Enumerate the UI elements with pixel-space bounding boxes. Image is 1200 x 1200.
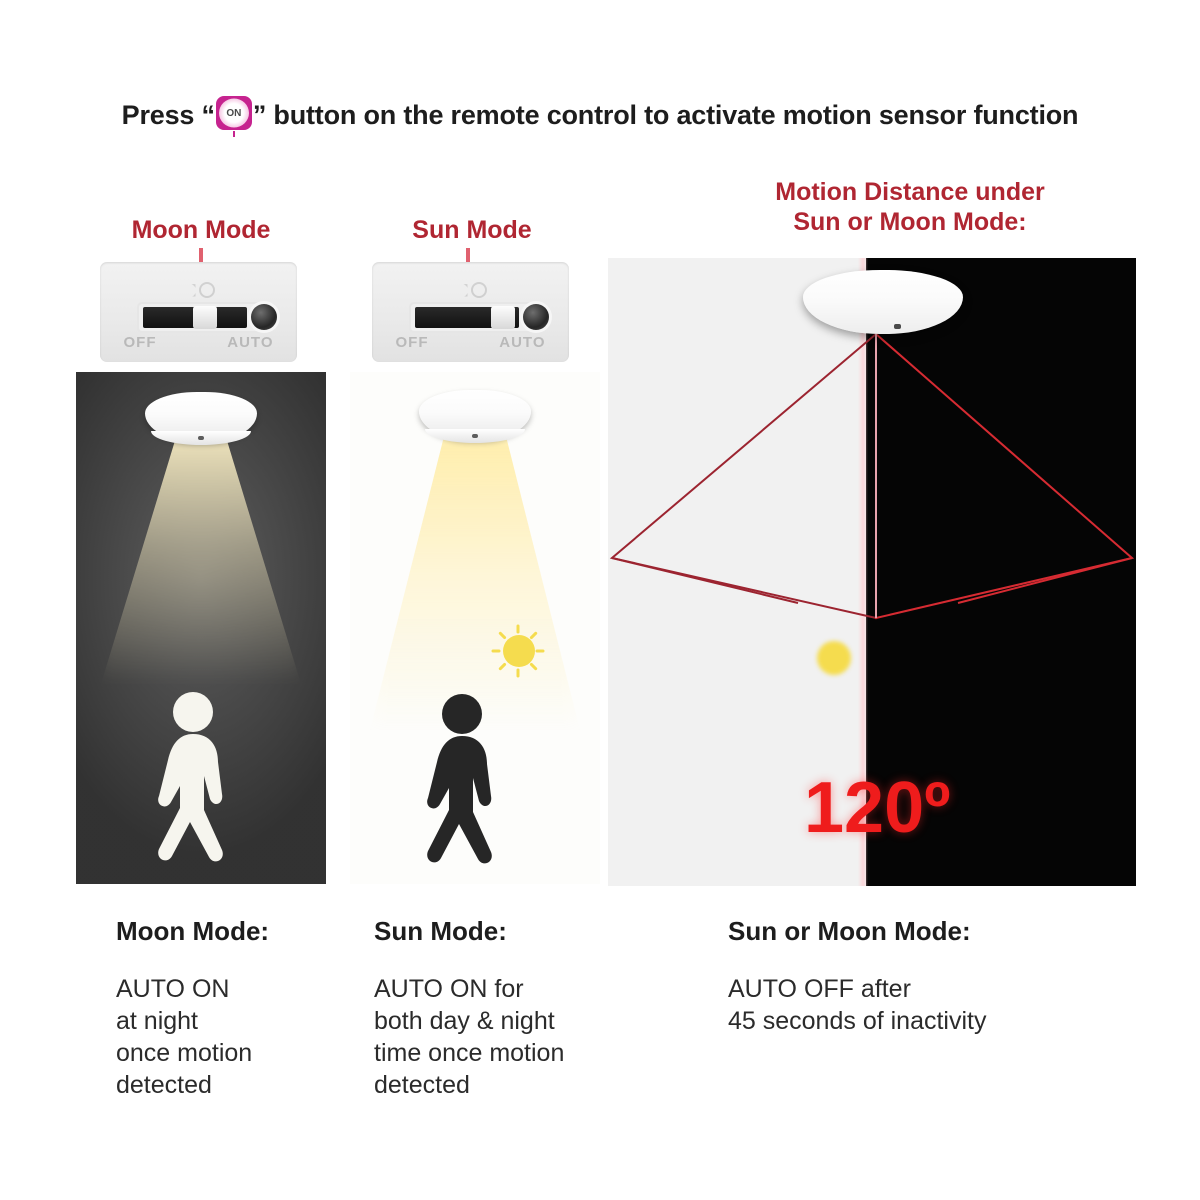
caption-moon-mode: Moon Mode: AUTO ON at night once motion … (116, 916, 376, 1101)
caption-title: Sun Mode: (374, 916, 654, 947)
sun-core (817, 641, 851, 675)
motion-distance-title: Motion Distance under Sun or Moon Mode: (700, 178, 1120, 237)
sun-icon (804, 628, 864, 688)
moon-icon (176, 280, 222, 300)
moon-mode-scene (76, 372, 326, 884)
sun-ray (498, 662, 506, 670)
sun-ray (529, 631, 537, 639)
sun-ray (529, 662, 537, 670)
sensor-lens-icon (523, 304, 549, 330)
switch-knob[interactable] (491, 306, 515, 329)
switch-auto-label: AUTO (227, 334, 273, 351)
sun-ray (516, 669, 519, 678)
sun-ray (498, 631, 506, 639)
ceiling-light-icon (419, 390, 531, 440)
on-button-stem (233, 131, 235, 137)
header-text-before: Press “ (122, 100, 215, 130)
sun-icon (448, 280, 494, 300)
ceiling-light-icon (145, 392, 257, 442)
detection-angle-label: 120º (804, 772, 950, 844)
device-switch-plate-sun[interactable]: OFF AUTO (372, 262, 569, 362)
sun-ray (535, 650, 544, 653)
sun-icon (490, 622, 548, 680)
lamp-body (419, 390, 531, 440)
crescent-moon-icon (890, 626, 930, 666)
caption-title: Sun or Moon Mode: (728, 916, 1128, 947)
on-button-icon[interactable]: ON (216, 96, 252, 130)
device-switch-plate-moon[interactable]: OFF AUTO (100, 262, 297, 362)
caption-body: AUTO ON for both day & night time once m… (374, 973, 654, 1101)
sun-ray (491, 650, 500, 653)
caption-body: AUTO OFF after 45 seconds of inactivity (728, 973, 1128, 1037)
sun-glyph (199, 282, 215, 298)
light-beam (370, 430, 580, 730)
switch-off-label: OFF (396, 334, 429, 351)
switch-labels: OFF AUTO (396, 334, 546, 351)
instruction-header: Press “ ON ” button on the remote contro… (0, 96, 1200, 135)
mode-switch-sun[interactable] (411, 304, 531, 331)
caption-body: AUTO ON at night once motion detected (116, 973, 376, 1101)
caption-sun-mode: Sun Mode: AUTO ON for both day & night t… (374, 916, 654, 1101)
crescent-moon-icon (164, 630, 210, 676)
sun-glyph (471, 282, 487, 298)
lamp-body (803, 270, 963, 334)
switch-labels: OFF AUTO (124, 334, 274, 351)
moon-mode-title: Moon Mode (76, 216, 326, 245)
crescent-moon-icon (428, 630, 464, 666)
caption-title: Moon Mode: (116, 916, 376, 947)
lamp-led (198, 436, 204, 440)
sun-mode-title: Sun Mode (372, 216, 572, 245)
sun-ray (516, 625, 519, 634)
on-button-label: ON (216, 96, 252, 130)
mode-switch-moon[interactable] (139, 304, 259, 331)
moon-glyph (455, 284, 468, 297)
motion-distance-scene: 120º 16.4ft (5 M) (608, 258, 1136, 886)
moon-glyph (183, 284, 196, 297)
caption-sun-or-moon-mode: Sun or Moon Mode: AUTO OFF after 45 seco… (728, 916, 1128, 1037)
sensor-lens-icon (251, 304, 277, 330)
ceiling-light-icon (803, 270, 963, 334)
switch-off-label: OFF (124, 334, 157, 351)
switch-auto-label: AUTO (499, 334, 545, 351)
walking-person-icon (405, 692, 525, 872)
lamp-body (145, 392, 257, 442)
lamp-led (472, 434, 478, 438)
lamp-led (894, 324, 901, 329)
walking-person-icon (136, 690, 256, 870)
header-text-after: ” button on the remote control to activa… (253, 100, 1079, 130)
switch-knob[interactable] (193, 306, 217, 329)
sun-mode-scene (350, 372, 600, 884)
